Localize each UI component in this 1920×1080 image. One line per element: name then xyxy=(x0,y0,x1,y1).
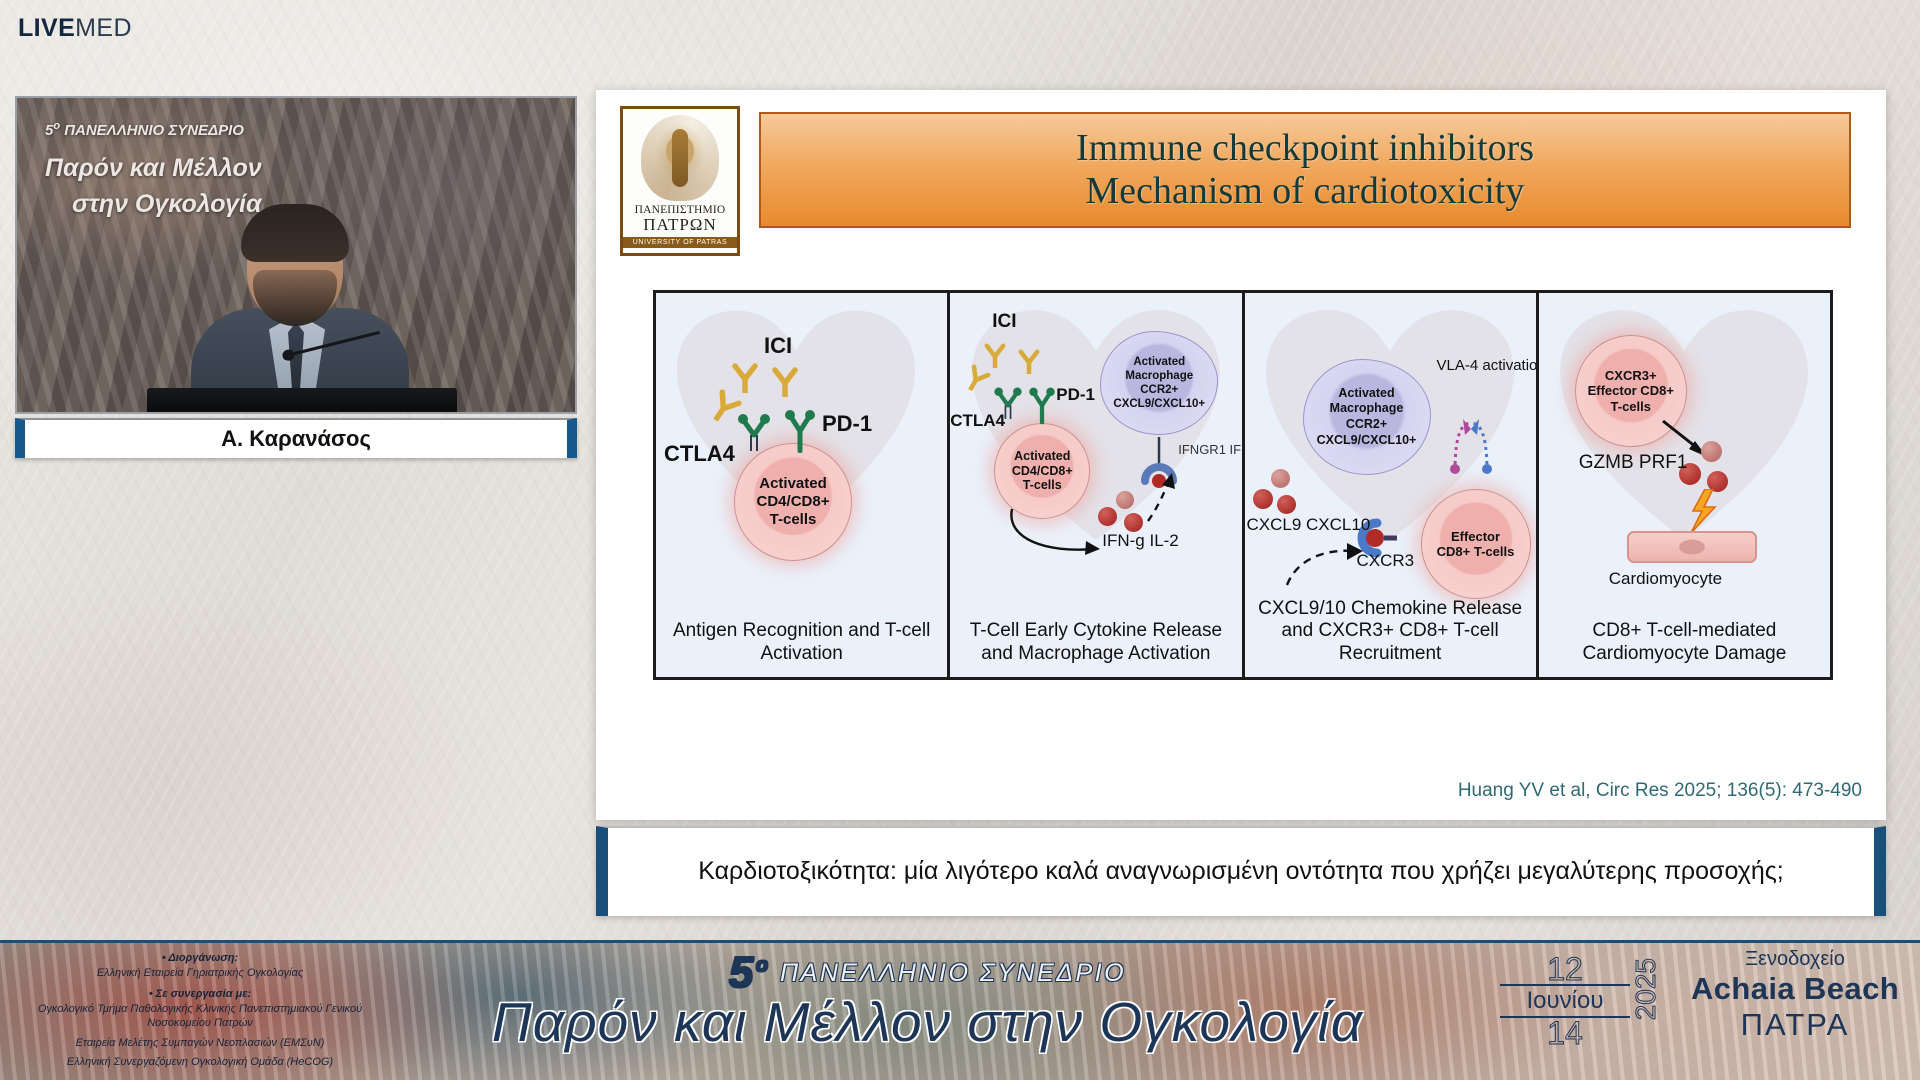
ctla4-receptor-icon xyxy=(734,395,774,453)
figure-panel-3: Activated Macrophage CCR2+ CXCL9/CXCL10+… xyxy=(1245,293,1536,677)
backdrop-line-2: Παρόν και Μέλλον xyxy=(45,154,262,183)
chemokine-dot xyxy=(1277,495,1296,514)
secretion-arrow-icon xyxy=(1006,505,1116,563)
slide-title-banner: Immune checkpoint inhibitors Mechanism o… xyxy=(759,112,1851,228)
pd1-receptor-icon xyxy=(780,389,820,453)
banner-dates: 12 Ιουνίου 14 xyxy=(1500,954,1630,1049)
presentation-slide[interactable]: ΠΑΝΕΠΙΣΤΗΜΙΟ ΠΑΤΡΩΝ UNIVERSITY OF PATRAS… xyxy=(596,90,1886,820)
antibody-icon xyxy=(728,359,762,393)
chemokine-dot xyxy=(1271,469,1290,488)
patras-emblem-icon xyxy=(641,115,719,201)
speaker-nameplate: Α. Καρανάσος xyxy=(15,418,577,458)
podium xyxy=(147,388,457,414)
antibody-icon xyxy=(981,340,1009,368)
panel1-caption: Antigen Recognition and T-cell Activatio… xyxy=(656,620,947,677)
figure-panel-1: ICI CTLA4 PD-1 Activated CD4/CD8+ T-cell… xyxy=(656,293,947,677)
speaker-video-panel[interactable]: 5ο ΠΑΝΕΛΛΗΝΙΟ ΣΥΝΕΔΡΙΟ Παρόν και Μέλλον … xyxy=(15,96,577,458)
venue-name: Achaia Beach xyxy=(1680,971,1910,1007)
panel2-ctla4-label: CTLA4 xyxy=(950,411,1005,431)
banner-congress-title: Παρόν και Μέλλον στην Ογκολογία xyxy=(390,990,1465,1054)
panel4-granzymes-label: GZMB PRF1 xyxy=(1579,451,1688,474)
date-month: Ιουνίου xyxy=(1500,984,1630,1018)
activated-tcell: Activated CD4/CD8+ T-cells xyxy=(734,443,852,561)
session-caption-bar: Καρδιοτοξικότητα: μία λιγότερο καλά αναγ… xyxy=(596,826,1886,916)
collaborator-2: Εταιρεία Μελέτης Συμπαγών Νεοπλασιών (ΕΜ… xyxy=(30,1036,370,1051)
livemed-logo-strong: LIVE xyxy=(18,14,75,42)
panel3-chemokines-label: CXCL9 CXCL10 xyxy=(1247,515,1371,536)
activated-macrophage: Activated Macrophage CCR2+ CXCL9/CXCL10+ xyxy=(1303,359,1431,475)
speaker-hair xyxy=(241,204,349,262)
panel1-ici-label: ICI xyxy=(764,333,792,359)
venue-kind: Ξενοδοχείο xyxy=(1680,948,1910,971)
figure-citation: Huang YV et al, Circ Res 2025; 136(5): 4… xyxy=(1458,780,1862,802)
banner-title-block: 5ο ΠΑΝΕΛΛΗΝΙΟ ΣΥΝΕΔΡΙΟ Παρόν και Μέλλον … xyxy=(390,948,1465,1054)
speaker-video[interactable]: 5ο ΠΑΝΕΛΛΗΝΙΟ ΣΥΝΕΔΡΙΟ Παρόν και Μέλλον … xyxy=(15,96,577,414)
panel2-caption: T-Cell Early Cytokine Release and Macrop… xyxy=(950,620,1241,677)
congress-banner: Διοργάνωση: Ελληνική Εταιρεία Γηριατρική… xyxy=(0,940,1920,1080)
patras-logo-line2: ΠΑΤΡΩΝ xyxy=(643,216,716,234)
organizer-heading: Διοργάνωση: xyxy=(30,952,370,964)
vla4-integrin-icon xyxy=(1441,401,1507,477)
damage-bolt-icon xyxy=(1687,489,1721,535)
panel3-caption: CXCL9/10 Chemokine Release and CXCR3+ CD… xyxy=(1245,598,1536,677)
pd1-receptor-icon xyxy=(1025,370,1059,424)
date-from: 12 xyxy=(1500,954,1630,984)
banner-venue: Ξενοδοχείο Achaia Beach ΠΑΤΡΑ xyxy=(1680,948,1910,1043)
session-caption-text: Καρδιοτοξικότητα: μία λιγότερο καλά αναγ… xyxy=(658,855,1824,889)
banner-top-rule xyxy=(0,940,1920,943)
mechanism-figure: ICI CTLA4 PD-1 Activated CD4/CD8+ T-cell… xyxy=(653,290,1833,680)
panel1-ctla4-label: CTLA4 xyxy=(664,441,735,467)
slide-title-line-1: Immune checkpoint inhibitors xyxy=(1076,127,1534,170)
collaborators-heading: Σε συνεργασία με: xyxy=(30,988,370,1000)
slide-title-line-2: Mechanism of cardiotoxicity xyxy=(1086,170,1525,213)
panel2-ifngr-label: IFNGR1 IFNGR2 xyxy=(1178,443,1241,458)
panel4-caption: CD8+ T-cell-mediated Cardiomyocyte Damag… xyxy=(1539,620,1830,677)
figure-panel-4: CXCR3+ Effector CD8+ T-cells GZMB PRF1 C… xyxy=(1539,293,1830,677)
granzyme-dot xyxy=(1701,441,1722,462)
livemed-logo: LIVEMED xyxy=(18,14,132,43)
date-to: 14 xyxy=(1500,1018,1630,1048)
signaling-arrow-icon xyxy=(1142,471,1184,525)
banner-organizers: Διοργάνωση: Ελληνική Εταιρεία Γηριατρική… xyxy=(30,952,370,1070)
backdrop-line-1: 5ο ΠΑΝΕΛΛΗΝΙΟ ΣΥΝΕΔΡΙΟ xyxy=(45,120,244,139)
banner-year: 2025 xyxy=(1630,958,1662,1020)
panel2-cytokines-label: IFN-g IL-2 xyxy=(1102,531,1179,551)
speaker-figure xyxy=(185,210,415,414)
banner-edition-ordinal: ο xyxy=(756,954,771,976)
panel1-pd1-label: PD-1 xyxy=(822,411,872,437)
cardiomyocyte-cell xyxy=(1627,531,1757,563)
speaker-name: Α. Καρανάσος xyxy=(221,426,371,452)
effector-tcell: Effector CD8+ T-cells xyxy=(1421,489,1531,599)
panel4-cardiomyocyte-label: Cardiomyocyte xyxy=(1609,569,1722,589)
figure-panel-2: ICI CTLA4 PD-1 Activated CD4/CD8+ T-cell… xyxy=(950,293,1241,677)
collaborator-1: Ογκολογικό Τμήμα Παθολογικής Κλινικής Πα… xyxy=(30,1002,370,1031)
chemokine-dot xyxy=(1253,489,1273,509)
venue-city: ΠΑΤΡΑ xyxy=(1680,1007,1910,1043)
livemed-logo-light: MED xyxy=(75,14,132,42)
panel2-pd1-label: PD-1 xyxy=(1056,385,1095,405)
collaborator-3: Ελληνική Συνεργαζόμενη Ογκολογική Ομάδα … xyxy=(30,1055,370,1070)
patras-logo-line3: UNIVERSITY OF PATRAS xyxy=(623,237,737,248)
organizer-name: Ελληνική Εταιρεία Γηριατρικής Ογκολογίας xyxy=(30,966,370,981)
banner-congress-kind: ΠΑΝΕΛΛΗΝΙΟ ΣΥΝΕΔΡΙΟ xyxy=(780,959,1126,987)
university-of-patras-logo: ΠΑΝΕΠΙΣΤΗΜΙΟ ΠΑΤΡΩΝ UNIVERSITY OF PATRAS xyxy=(620,106,740,256)
panel3-vla4-label: VLA-4 activation xyxy=(1437,357,1536,375)
panel3-cxcr3-label: CXCR3 xyxy=(1357,551,1415,571)
panel2-ici-label: ICI xyxy=(992,311,1016,333)
